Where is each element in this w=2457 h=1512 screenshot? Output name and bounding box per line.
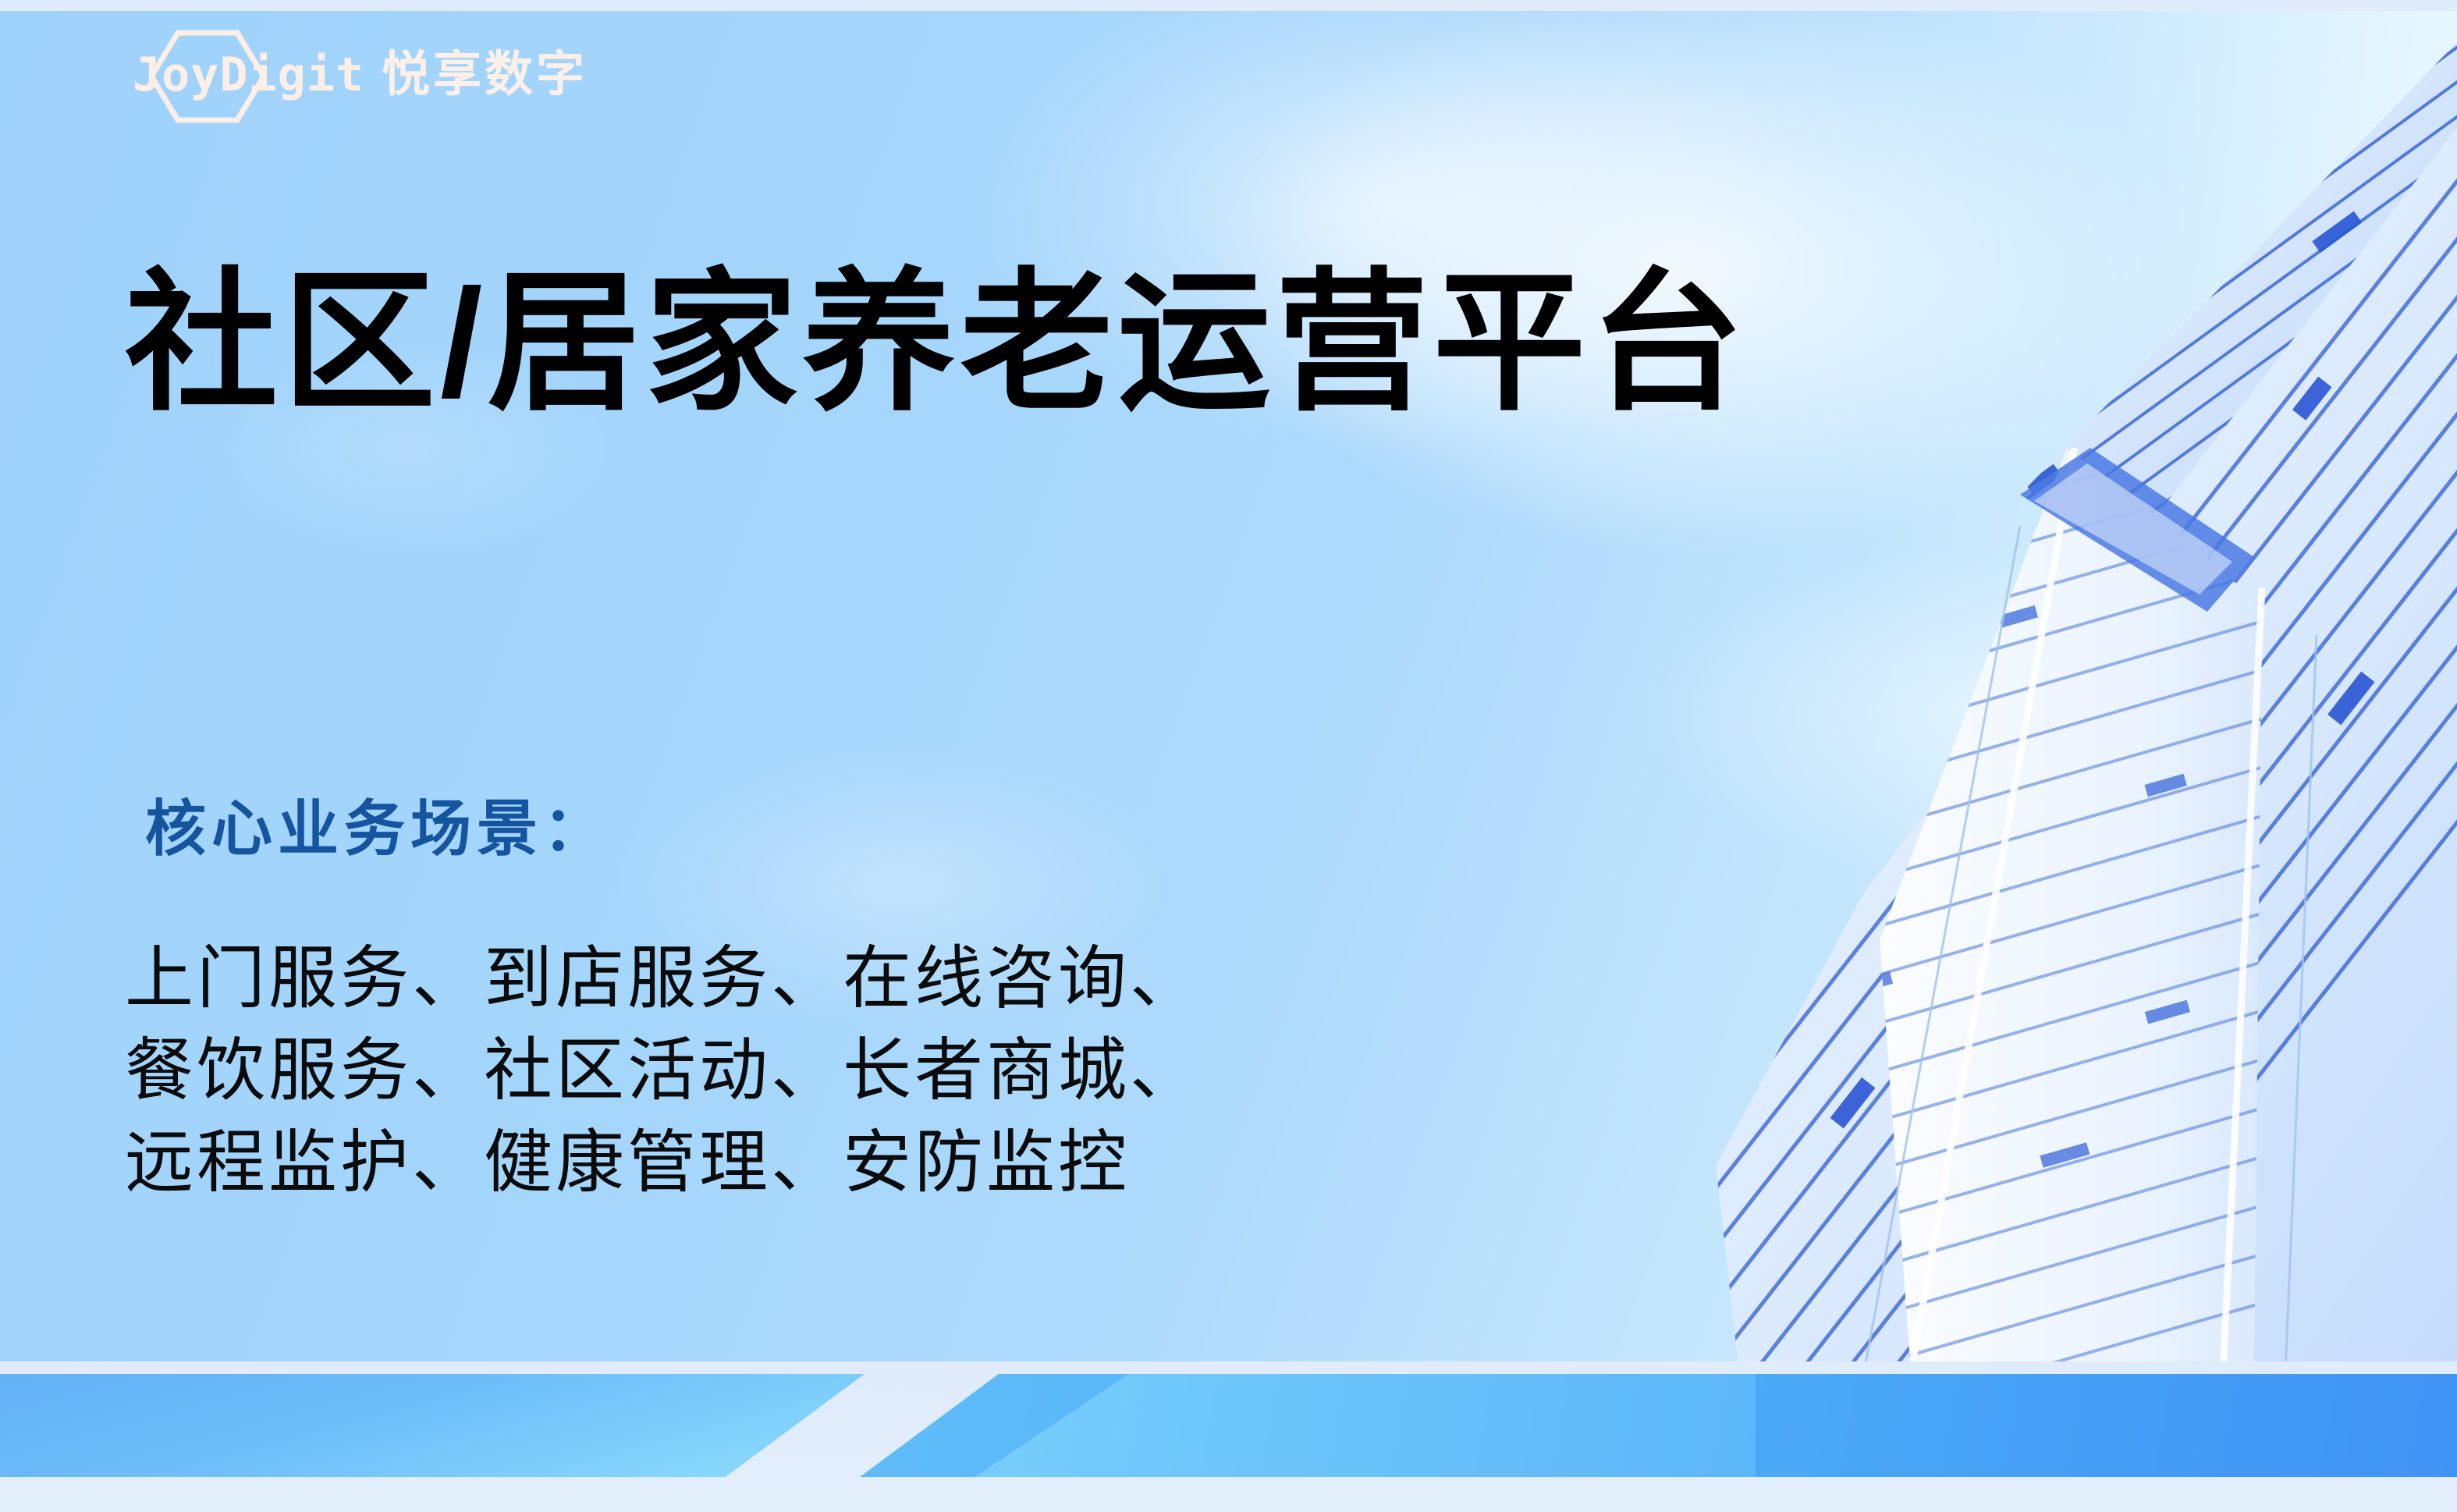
skyscraper-photo — [1474, 11, 2457, 1372]
brand-logo[interactable]: JoyDigit 悦享数字 — [133, 37, 588, 112]
scenario-list: 上门服务、到店服务、在线咨询、 餐饮服务、社区活动、长者商城、 远程监护、健康管… — [125, 932, 1202, 1209]
scenario-line-3: 远程监护、健康管理、安防监控 — [125, 1116, 1202, 1209]
brand-logo-cn: 悦享数字 — [382, 51, 588, 99]
scenario-line-1: 上门服务、到店服务、在线咨询、 — [125, 932, 1202, 1024]
scenario-line-2: 餐饮服务、社区活动、长者商城、 — [125, 1024, 1202, 1116]
skyscraper-illustration — [1474, 11, 2457, 1372]
slide-canvas: JoyDigit 悦享数字 社区/居家养老运营平台 核心业务场景： 上门服务、到… — [0, 0, 2457, 1512]
brand-logo-text: JoyDigit 悦享数字 — [133, 51, 588, 99]
top-edge-strip — [0, 0, 2457, 11]
bottom-decor-band — [0, 1361, 2457, 1512]
brand-logo-en: JoyDigit — [133, 51, 364, 98]
section-heading: 核心业务场景： — [145, 780, 609, 868]
page-title: 社区/居家养老运营平台 — [125, 257, 1748, 429]
